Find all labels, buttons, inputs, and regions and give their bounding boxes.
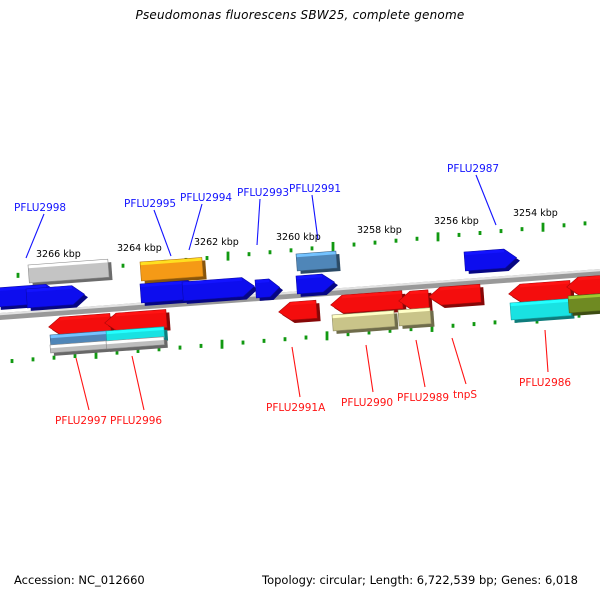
scale-tick	[206, 256, 209, 260]
scale-tick	[326, 331, 329, 340]
genome-stats-text: Topology: circular; Length: 6,722,539 bp…	[262, 573, 578, 587]
scale-label: 3266 kbp	[36, 249, 81, 260]
scale-tick	[374, 241, 377, 245]
scale-label: 3264 kbp	[117, 243, 162, 254]
leader-line	[416, 340, 425, 387]
leader-line	[76, 358, 89, 410]
gene-label-pflu2997[interactable]: PFLU2997	[55, 415, 107, 427]
scale-label: 3256 kbp	[434, 216, 479, 227]
scale-tick	[122, 264, 125, 268]
scale-tick	[521, 227, 524, 231]
feature-red-2991A[interactable]	[278, 300, 321, 324]
scale-tick	[179, 346, 182, 350]
scale-tick	[473, 322, 476, 326]
leader-line	[257, 199, 260, 245]
scale-tick	[542, 223, 545, 232]
gene-label-tnps[interactable]: tnpS	[453, 389, 477, 401]
scale-tick	[74, 354, 77, 358]
scale-tick	[53, 356, 56, 360]
leader-line	[132, 356, 144, 410]
genome-map-canvas[interactable]	[0, 0, 600, 600]
leader-line	[545, 330, 548, 372]
scale-tick	[494, 320, 497, 324]
gene-label-pflu2995[interactable]: PFLU2995	[124, 198, 176, 210]
scale-label: 3254 kbp	[513, 208, 558, 219]
scale-tick	[284, 337, 287, 341]
gene-feature-layer[interactable]	[0, 248, 600, 356]
feature-orange-2995[interactable]	[140, 257, 207, 284]
scale-tick	[32, 357, 35, 361]
scale-tick	[311, 246, 314, 250]
scale-tick	[221, 340, 224, 349]
feature-khaki-2989[interactable]	[398, 307, 435, 329]
scale-tick	[242, 341, 245, 345]
feature-blue-2987[interactable]	[464, 248, 521, 274]
gene-label-pflu2991a[interactable]: PFLU2991A	[266, 402, 325, 414]
scale-tick	[332, 242, 335, 251]
feature-blue-2998b[interactable]	[26, 285, 89, 312]
scale-label: 3260 kbp	[276, 232, 321, 243]
scale-tick	[200, 344, 203, 348]
scale-tick	[305, 336, 308, 340]
scale-label: 3262 kbp	[194, 237, 239, 248]
scale-label: 3258 kbp	[357, 225, 402, 236]
leader-line	[452, 338, 466, 384]
leader-line	[476, 175, 496, 225]
scale-tick	[227, 252, 230, 261]
scale-tick	[290, 248, 293, 252]
scale-tick	[11, 359, 14, 363]
scale-tick	[17, 273, 20, 278]
scale-tick	[500, 229, 503, 233]
genome-viewer: Pseudomonas fluorescens SBW25, complete …	[0, 0, 600, 600]
gene-label-pflu2994[interactable]: PFLU2994	[180, 192, 232, 204]
scale-tick	[395, 239, 398, 243]
gene-label-pflu2987[interactable]: PFLU2987	[447, 163, 499, 175]
leader-line	[292, 347, 300, 397]
scale-tick	[563, 223, 566, 227]
scale-tick	[452, 324, 455, 328]
gene-label-pflu2998[interactable]: PFLU2998	[14, 202, 66, 214]
feature-gray-2998-box[interactable]	[28, 259, 113, 286]
feature-steelblue-2991[interactable]	[296, 251, 341, 274]
gene-label-pflu2986[interactable]: PFLU2986	[519, 377, 571, 389]
accession-text: Accession: NC_012660	[14, 573, 145, 587]
gene-label-pflu2991[interactable]: PFLU2991	[289, 183, 341, 195]
scale-tick	[416, 237, 419, 241]
scale-tick	[263, 339, 266, 343]
feature-olive-right-edge[interactable]	[568, 292, 600, 316]
feature-cyan-2986[interactable]	[510, 298, 575, 323]
gene-label-pflu2990[interactable]: PFLU2990	[341, 397, 393, 409]
scale-tick	[584, 221, 587, 225]
gene-label-pflu2989[interactable]: PFLU2989	[397, 392, 449, 404]
scale-tick	[269, 250, 272, 254]
leader-line	[366, 345, 373, 392]
gene-label-pflu2996[interactable]: PFLU2996	[110, 415, 162, 427]
scale-tick	[479, 231, 482, 235]
scale-tick	[437, 232, 440, 241]
scale-tick	[353, 243, 356, 247]
feature-khaki-2990[interactable]	[332, 310, 398, 334]
scale-tick	[248, 252, 251, 256]
scale-tick	[458, 233, 461, 237]
gene-label-pflu2993[interactable]: PFLU2993	[237, 187, 289, 199]
